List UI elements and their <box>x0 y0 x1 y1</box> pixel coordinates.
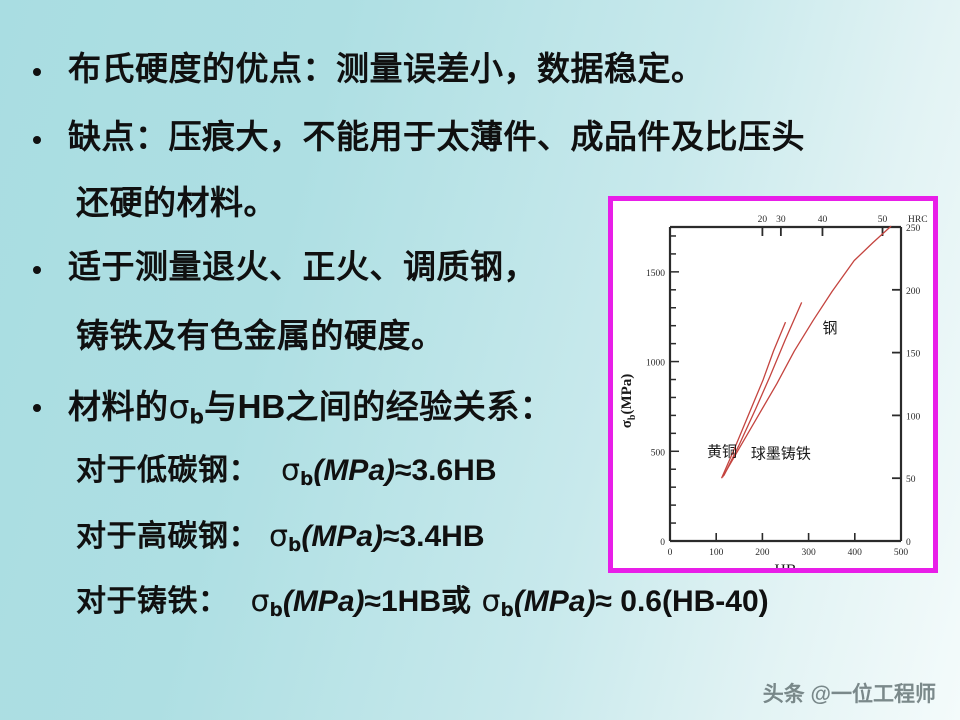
x-axis-tick-label: 300 <box>801 548 816 558</box>
formula-3-conjunction: 或 <box>441 585 472 618</box>
formula-3-unit-2: (MPa) <box>514 585 596 618</box>
bullet-item-1: 布氏硬度的优点：测量误差小，数据稳定。 <box>0 54 960 87</box>
top-axis-tick-label: 20 <box>758 215 768 225</box>
chart-panel: 050010001500σb(MPa)0100200300400500HB203… <box>608 196 938 573</box>
bullet-item-3-continuation-text: 铸铁及有色金属的硬度。 <box>76 319 445 355</box>
formula-2-relation: ≈3.4HB <box>383 520 485 553</box>
right-axis-tick-label: 100 <box>906 412 921 422</box>
x-axis-tick-label: 400 <box>848 548 863 558</box>
formula-1-label: 对于低碳钢： <box>76 454 259 487</box>
top-axis-tick-label: 50 <box>878 215 888 225</box>
top-axis-tick-label: 30 <box>776 215 786 225</box>
right-axis-tick-label: 200 <box>906 287 921 297</box>
relation-middle: 与 <box>204 390 238 426</box>
chart-background <box>613 201 933 568</box>
bullet-dot-icon <box>33 266 41 274</box>
formula-1-relation: ≈3.6HB <box>395 454 497 487</box>
bullet-dot-icon <box>33 68 41 76</box>
formula-3-relation: ≈1HB <box>365 585 441 618</box>
sigma-subscript: b <box>270 600 283 621</box>
y-axis-tick-label: 1000 <box>646 359 665 369</box>
sigma-subscript: b <box>300 469 313 490</box>
bullet-item-2-text: 缺点：压痕大，不能用于太薄件、成品件及比压头 <box>68 120 805 156</box>
formula-3-unit: (MPa) <box>283 585 365 618</box>
right-axis-tick-label: 0 <box>906 538 911 548</box>
formula-1-sigma: σb <box>281 453 313 488</box>
top-axis-tick-label: 40 <box>818 215 828 225</box>
relation-hb: HB <box>238 388 286 425</box>
y-axis-tick-label: 500 <box>651 448 666 458</box>
y-axis-tick-label: 0 <box>660 538 665 548</box>
series-annotation-label: 球墨铸铁 <box>751 445 811 462</box>
slide-canvas: 布氏硬度的优点：测量误差小，数据稳定。 缺点：压痕大，不能用于太薄件、成品件及比… <box>0 0 960 720</box>
relation-prefix: 材料的 <box>68 390 169 426</box>
formula-3-sigma-2: σb <box>481 584 513 619</box>
bullet-item-2: 缺点：压痕大，不能用于太薄件、成品件及比压头 <box>0 122 960 155</box>
sigma-glyph: σ <box>251 584 270 619</box>
series-annotation-label: 钢 <box>822 320 837 337</box>
formula-2-label: 对于高碳钢： <box>76 520 259 553</box>
bullet-dot-icon <box>33 136 41 144</box>
x-axis-tick-label: 0 <box>668 548 673 558</box>
formula-3-relation-2: ≈ 0.6(HB-40) <box>595 585 768 618</box>
right-axis-tick-label: 250 <box>906 224 921 234</box>
relation-sigma-symbol: σb <box>169 387 205 426</box>
hardness-tensile-chart: 050010001500σb(MPa)0100200300400500HB203… <box>613 201 933 568</box>
x-axis-tick-label: 500 <box>894 548 909 558</box>
sigma-subscript: b <box>189 405 204 429</box>
formula-1-unit: (MPa) <box>313 454 395 487</box>
sigma-glyph: σ <box>481 584 500 619</box>
bullet-item-2-continuation-text: 还硬的材料。 <box>76 186 277 222</box>
x-axis-tick-label: 200 <box>755 548 770 558</box>
right-axis-tick-label: 150 <box>906 350 921 360</box>
sigma-subscript: b <box>288 535 301 556</box>
formula-row-cast-iron: 对于铸铁：σb(MPa)≈1HB或σb(MPa)≈ 0.6(HB-40) <box>0 587 960 621</box>
watermark-text: 头条 @一位工程师 <box>763 678 936 708</box>
x-axis-tick-label: 100 <box>709 548 724 558</box>
x-axis-title: HB <box>774 562 796 568</box>
relation-suffix: 之间的经验关系： <box>285 390 553 426</box>
bullet-item-1-text: 布氏硬度的优点：测量误差小，数据稳定。 <box>68 52 705 88</box>
bullet-dot-icon <box>33 404 41 412</box>
sigma-glyph: σ <box>281 453 300 488</box>
series-annotation-label: 黄铜 <box>707 444 737 461</box>
formula-3-label: 对于铸铁： <box>76 585 229 618</box>
right-axis-tick-label: 50 <box>906 475 916 485</box>
formula-3-sigma: σb <box>251 584 283 619</box>
sigma-subscript: b <box>501 600 514 621</box>
y-axis-tick-label: 1500 <box>646 269 665 279</box>
sigma-glyph: σ <box>269 519 288 554</box>
formula-2-sigma: σb <box>269 519 301 554</box>
formula-2-unit: (MPa) <box>301 520 383 553</box>
bullet-item-3-text: 适于测量退火、正火、调质钢， <box>68 250 537 286</box>
sigma-glyph: σ <box>169 387 190 426</box>
